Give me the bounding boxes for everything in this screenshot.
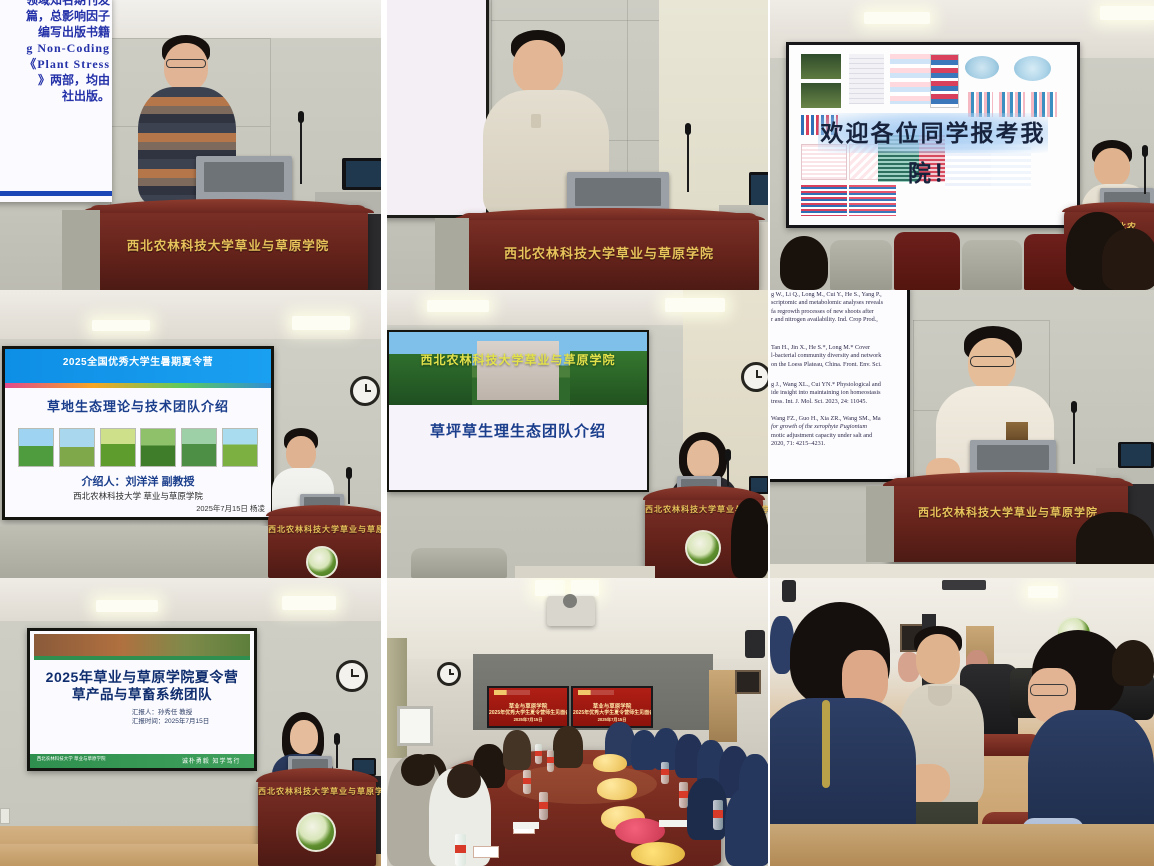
slide-presenter: 介绍人：刘洋洋 副教授	[5, 473, 271, 489]
glasses-icon	[1030, 684, 1068, 696]
ceiling-light	[282, 596, 336, 610]
figure-legend-heatmap	[930, 54, 959, 108]
water-bottle	[713, 800, 723, 830]
slide-body: 草坪草生理生态团队介绍	[389, 405, 647, 490]
figure-photo	[801, 54, 841, 79]
wall-seam	[913, 320, 1049, 321]
led-line-2: 2025年优秀大学生夏令营师生见面会	[573, 709, 651, 716]
panel-bottom-right	[770, 578, 1154, 866]
head	[687, 440, 719, 478]
lecture-room: 欢迎各位同学报考我院！ 西北农	[770, 0, 1154, 290]
seat-row	[515, 566, 655, 578]
slide-datetime: 2025年7月15日 杨凌	[196, 503, 265, 514]
college-emblem-icon	[685, 530, 721, 566]
slide-line: 《Plant Stress	[0, 56, 110, 72]
slide-title: 草坪草生理生态团队介绍	[389, 420, 647, 441]
thumb-image	[140, 428, 176, 467]
microphone	[1073, 408, 1075, 464]
citation-line: g J., Wang XL., Cui YN.* Physiological a…	[771, 381, 906, 389]
seat	[962, 240, 1022, 290]
slide-rule	[34, 656, 249, 660]
laptop	[196, 156, 292, 202]
thumb-image	[222, 428, 258, 467]
microphone	[300, 118, 302, 184]
collar	[531, 114, 541, 128]
microphone	[687, 130, 689, 192]
citation-line: on the Loess Plateau, China. Front. Env.…	[771, 361, 906, 369]
water-bottle	[539, 792, 548, 820]
water-bottle	[455, 834, 466, 866]
ceiling-light	[665, 298, 725, 312]
ceiling-light	[427, 300, 489, 312]
audience-head	[731, 498, 768, 578]
slide-subtitle: 草产品与草畜系统团队	[30, 683, 254, 703]
seat	[894, 232, 960, 290]
citation-line: for growth of the xerophyte Pugionium	[771, 423, 906, 431]
slide-footer-bar: 西北农林科技大学 草业与草原学院 诚朴勇毅 知学笃行	[30, 754, 254, 768]
poster-slide: 欢迎各位同学报考我院！	[789, 45, 1077, 225]
figure-heatmap	[849, 185, 895, 216]
figure-heatmap	[801, 185, 847, 216]
panel-mid-center: 西北农林科技大学草业与草原学院 草坪草生理生态团队介绍 西北农林科技大学草业与草…	[387, 290, 768, 578]
university-logo	[578, 690, 614, 695]
slide-header-text: 西北农林科技大学草业与草原学院	[389, 351, 647, 368]
floor	[770, 824, 1154, 866]
citation-line: ide insight into maintaining ion homeost…	[771, 389, 906, 397]
glasses-icon	[166, 59, 206, 68]
wall-clock	[336, 660, 368, 692]
citation-line: fa regrowth processes of new shoots afte…	[771, 308, 906, 316]
paper	[659, 820, 687, 827]
citation-entry: g J., Wang XL., Cui YN.* Physiological a…	[771, 381, 906, 406]
thumb-image	[181, 428, 217, 467]
wall-clock	[350, 376, 380, 406]
figure-photo	[801, 83, 841, 108]
projection-screen: 西北农林科技大学草业与草原学院 草坪草生理生态团队介绍	[387, 330, 649, 492]
head	[916, 634, 960, 684]
panel-bottom-left: 2025年草业与草原学院夏令营 草产品与草畜系统团队 汇报人：孙秀任 教授 汇报…	[0, 578, 381, 866]
attendee	[553, 726, 583, 768]
podium: 西北农林科技大学草业与草原学院	[268, 510, 381, 578]
projection-screen	[387, 0, 489, 218]
seat	[830, 240, 892, 290]
floor	[0, 844, 258, 866]
university-logo	[494, 690, 530, 695]
led-line-2: 2025年优秀大学生夏令营师生见面会	[489, 709, 567, 716]
microphone	[336, 740, 338, 768]
conference-room: 草业与草原学院 2025年优秀大学生夏令营师生见面会 2025年7月15日 草业…	[387, 578, 768, 866]
slide-line: 社出版。	[0, 88, 110, 104]
head	[286, 436, 316, 470]
slide-image-strip	[18, 428, 257, 467]
ceiling-light	[535, 580, 565, 596]
head	[1094, 148, 1130, 186]
side-monitor	[1118, 442, 1154, 468]
lecture-room: 西北农林科技大学草业与草原学院	[387, 0, 768, 290]
building-image	[477, 341, 560, 401]
microphone	[348, 474, 350, 504]
lecture-room: 2025全国优秀大学生暑期夏令营 草地生态理论与技术团队介绍 介绍人：刘洋洋 副…	[0, 290, 381, 578]
slide-header-photo	[34, 634, 249, 656]
door	[709, 670, 737, 742]
led-line-3: 2025年7月15日	[573, 717, 651, 723]
seat	[411, 548, 507, 578]
led-display-right: 草业与草原学院 2025年优秀大学生夏令营师生见面会 2025年7月15日	[571, 686, 653, 728]
lanyard	[822, 700, 830, 788]
lecture-room: 2025年草业与草原学院夏令营 草产品与草畜系统团队 汇报人：孙秀任 教授 汇报…	[0, 578, 381, 866]
floor	[770, 564, 1154, 578]
attendee-head	[447, 764, 481, 798]
panel-bottom-center: 草业与草原学院 2025年优秀大学生夏令营师生见面会 2025年7月15日 草业…	[387, 578, 768, 866]
podium-side-panel	[62, 210, 100, 290]
water-bottle	[661, 762, 669, 784]
name-card	[473, 846, 499, 858]
wall-seam	[913, 320, 914, 480]
projection-screen: g W., Li Q., Long M., Cui Y., He S., Yan…	[770, 290, 910, 482]
figure-section-image	[965, 56, 1000, 79]
photo-collage: 领域知名期刊发 篇，总影响因子 编写出版书籍 g Non-Coding 《Pla…	[0, 0, 1154, 866]
slide-line: 编写出版书籍	[0, 24, 110, 40]
ceiling-light	[92, 320, 150, 331]
microphone	[1144, 152, 1146, 194]
college-emblem-icon	[296, 812, 336, 852]
ceiling-light	[1028, 586, 1058, 598]
podium: 西北农林科技大学草业与草原学院	[88, 205, 368, 290]
podium-label: 西北农林科技大学草业与草原学院	[268, 524, 381, 535]
wall-clock	[437, 662, 461, 686]
slide-header-photo: 西北农林科技大学草业与草原学院	[389, 332, 647, 405]
panel-mid-left: 2025全国优秀大学生暑期夏令营 草地生态理论与技术团队介绍 介绍人：刘洋洋 副…	[0, 290, 381, 578]
wall-clock	[741, 362, 768, 392]
watermelon-plate	[615, 818, 665, 844]
panel-top-center: 西北农林科技大学草业与草原学院	[387, 0, 768, 290]
slide-line: 领域知名期刊发	[0, 0, 110, 8]
panel-top-left: 领域知名期刊发 篇，总影响因子 编写出版书籍 g Non-Coding 《Pla…	[0, 0, 381, 290]
citation-slide: g W., Li Q., Long M., Cui Y., He S., Yan…	[770, 290, 907, 479]
podium-label: 西北农林科技大学草业与草原学院	[459, 243, 759, 262]
citation-entry: Tan H., Jin X., He S.*, Long M.* Cover l…	[771, 344, 906, 369]
citation-line: g W., Li Q., Long M., Cui Y., He S., Yan…	[771, 291, 906, 299]
citation-line: r and nitrogen availability. Ind. Crop P…	[771, 316, 906, 324]
led-line-3: 2025年7月15日	[489, 717, 567, 723]
projection-screen: 2025年草业与草原学院夏令营 草产品与草畜系统团队 汇报人：孙秀任 教授 汇报…	[27, 628, 257, 771]
podium-side-panel	[435, 218, 469, 290]
slide-line: 》两部，均由	[0, 72, 110, 88]
projector-mount	[563, 594, 577, 608]
citation-line: l-bacterial community diversity and netw…	[771, 352, 906, 360]
citation-line: tress. Int. J. Mol. Sci. 2023, 24: 11045…	[771, 398, 906, 406]
ceiling-light	[571, 580, 599, 596]
figure-diagram	[849, 54, 884, 104]
podium: 西北农林科技大学草业与草原学院	[459, 213, 759, 290]
water-bottle	[535, 744, 542, 764]
thumb-image	[18, 428, 54, 467]
ceiling-fixture	[942, 580, 986, 590]
slide-banner: 2025全国优秀大学生暑期夏令营	[5, 349, 271, 383]
projection-screen: 2025全国优秀大学生暑期夏令营 草地生态理论与技术团队介绍 介绍人：刘洋洋 副…	[2, 346, 274, 520]
citation-line: Tan H., Jin X., He S.*, Long M.* Cover	[771, 344, 906, 352]
head	[290, 720, 318, 754]
citation-line: Wang FZ., Guo H., Xia ZR., Wang SM., Ma	[771, 415, 906, 423]
water-bottle	[523, 770, 531, 794]
side-monitor	[749, 172, 768, 208]
led-display-left: 草业与草原学院 2025年优秀大学生夏令营师生见面会 2025年7月15日	[487, 686, 569, 728]
audience-head	[780, 236, 828, 290]
slide-presenter-block: 汇报人：孙秀任 教授 汇报时间：2025年7月15日	[132, 708, 209, 726]
citation-line: motic adjustment capacity under salt and	[771, 432, 906, 440]
slide-presenter: 汇报人：孙秀任 教授	[132, 708, 209, 717]
speaker-box	[782, 580, 796, 602]
banana-plate	[631, 842, 685, 866]
slide-title: 草地生态理论与技术团队介绍	[5, 396, 271, 415]
welcome-message: 欢迎各位同学报考我院！	[818, 113, 1048, 153]
ceiling-light	[864, 12, 930, 24]
fruit-plate	[593, 754, 627, 772]
lecture-room: 西北农林科技大学草业与草原学院 草坪草生理生态团队介绍 西北农林科技大学草业与草…	[387, 290, 768, 578]
citation-entry: g W., Li Q., Long M., Cui Y., He S., Yan…	[771, 291, 906, 325]
projection-screen: 领域知名期刊发 篇，总影响因子 编写出版书籍 g Non-Coding 《Pla…	[0, 0, 112, 202]
ceiling-light	[292, 316, 350, 330]
wall-picture	[735, 670, 761, 694]
lecture-room: g W., Li Q., Long M., Cui Y., He S., Yan…	[770, 290, 1154, 578]
ceiling-light	[96, 600, 158, 612]
slide-text-block: 领域知名期刊发 篇，总影响因子 编写出版书籍 g Non-Coding 《Pla…	[0, 0, 110, 104]
collar	[928, 686, 952, 706]
slide-datetime: 汇报时间：2025年7月15日	[132, 717, 209, 726]
podium-label: 西北农林科技大学草业与草原学院	[88, 235, 368, 254]
lecture-room: 领域知名期刊发 篇，总影响因子 编写出版书籍 g Non-Coding 《Pla…	[0, 0, 381, 290]
panel-top-right: 欢迎各位同学报考我院！ 西北农	[770, 0, 1154, 290]
slide-footer-left: 西北农林科技大学 草业与草原学院	[37, 756, 106, 762]
floor	[0, 526, 268, 578]
fruit-plate	[597, 778, 637, 800]
podium: 西北农林科技大学草业与草原学院	[258, 774, 376, 866]
head	[513, 40, 563, 94]
student	[725, 788, 768, 866]
podium-label: 西北农林科技大学草业与草原学院	[258, 786, 376, 797]
attendee	[503, 730, 531, 770]
attendee-head	[401, 754, 435, 786]
water-bottle	[547, 750, 554, 772]
citation-line: scriptomic and metabolomic analyses reve…	[771, 299, 906, 307]
hair-bun	[1112, 640, 1154, 686]
water-bottle	[679, 782, 688, 808]
citation-entry: Wang FZ., Guo H., Xia ZR., Wang SM., Ma …	[771, 415, 906, 449]
slide-footer-right: 诚朴勇毅 知学笃行	[182, 756, 241, 765]
microphone	[727, 456, 729, 486]
projection-screen: 欢迎各位同学报考我院！	[786, 42, 1080, 228]
wall-outlet	[0, 808, 10, 824]
slide-banner-text: 2025全国优秀大学生暑期夏令营	[5, 353, 271, 368]
audience-head	[1102, 228, 1154, 290]
slide-rainbow-rule	[5, 383, 271, 388]
conference-room-closeup	[770, 578, 1154, 866]
whiteboard	[397, 706, 433, 746]
wall-seam	[491, 20, 659, 21]
panel-mid-right: g W., Li Q., Long M., Cui Y., He S., Yan…	[770, 290, 1154, 578]
slide-accent-bar	[0, 191, 112, 196]
citation-line: 2020, 71: 4215–4231.	[771, 440, 906, 448]
figure-section-image	[1014, 56, 1051, 81]
thumb-image	[100, 428, 136, 467]
podium-side-panel	[866, 486, 894, 562]
side-monitor	[342, 158, 381, 190]
paper	[513, 822, 539, 829]
college-emblem-icon	[306, 546, 338, 578]
speaker-box	[745, 630, 765, 658]
slide-line: g Non-Coding	[0, 40, 110, 56]
glasses-icon	[970, 356, 1014, 367]
slide-line: 篇，总影响因子	[0, 8, 110, 24]
thumb-image	[59, 428, 95, 467]
ceiling-light	[1100, 6, 1154, 20]
slide-affiliation: 西北农林科技大学 草业与草原学院	[5, 490, 271, 502]
